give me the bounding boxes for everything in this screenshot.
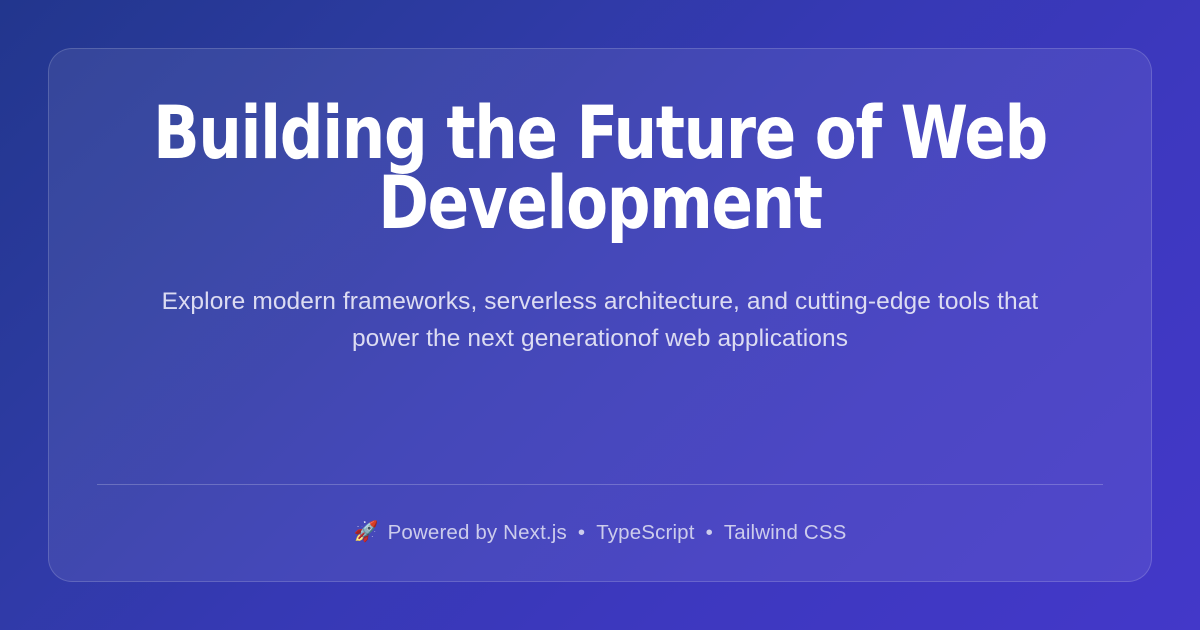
rocket-icon: 🚀 [354, 522, 379, 542]
page-title: Building the Future of Web Development [140, 93, 1061, 239]
og-image-canvas: Building the Future of Web Development E… [0, 0, 1200, 630]
footer-tech-tailwind: Tailwind CSS [724, 521, 847, 545]
footer-credits: 🚀 Powered by Next.js • TypeScript • Tail… [354, 485, 847, 581]
footer-powered-by-label: Powered by Next.js [388, 521, 567, 545]
footer-tech-typescript: TypeScript [596, 521, 694, 545]
footer-separator-2: • [704, 521, 715, 545]
page-subtitle: Explore modern frameworks, serverless ar… [160, 239, 1040, 357]
content-card: Building the Future of Web Development E… [48, 48, 1152, 582]
footer-separator-1: • [576, 521, 587, 545]
